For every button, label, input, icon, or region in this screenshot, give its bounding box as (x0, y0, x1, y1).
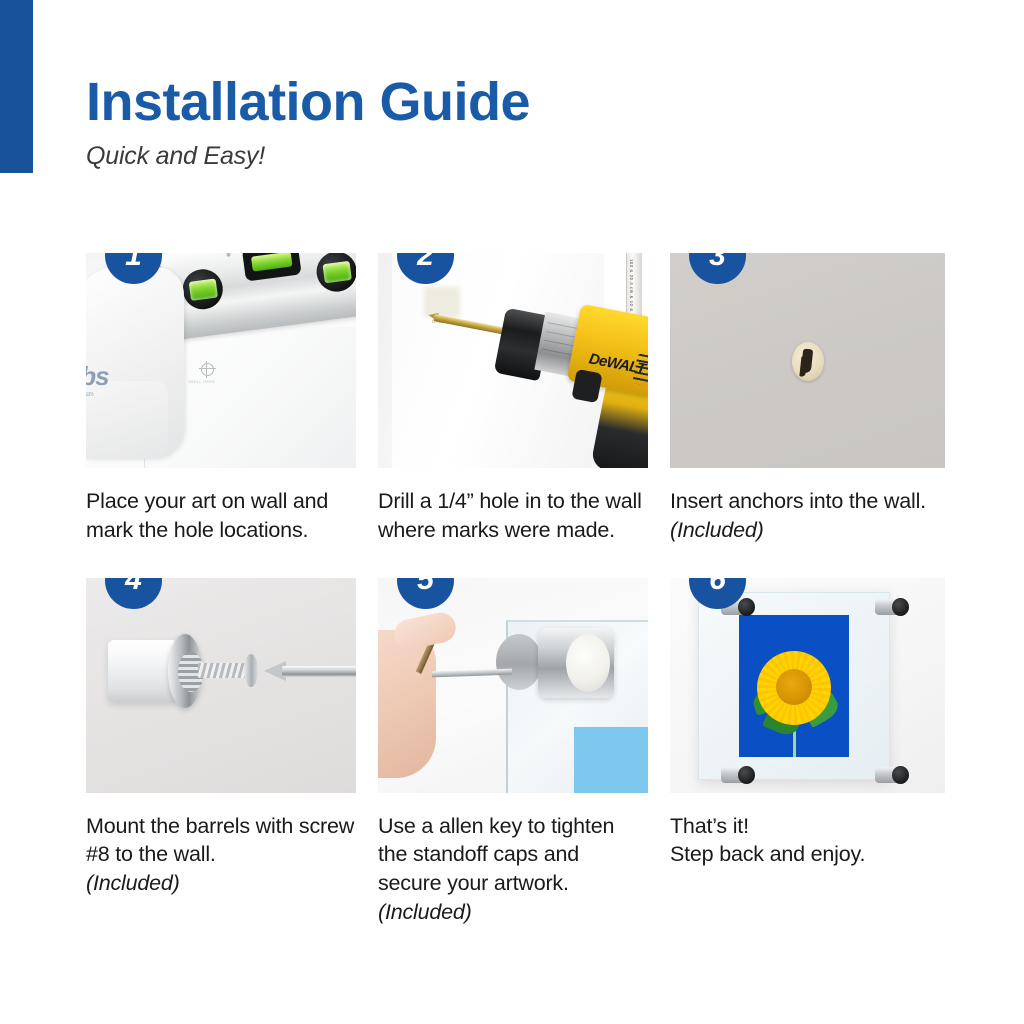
step-caption-6-main: That’s it! Step back and enjoy. (670, 814, 865, 867)
step-1: DRILL HERE lbswww.com 1 Place your art o… (86, 253, 356, 545)
level-on-acrylic-panel-photo: DRILL HERE lbswww.com 1 (86, 253, 356, 468)
step-badge-4: 4 (105, 578, 162, 609)
step-caption-4-note: (Included) (86, 869, 356, 898)
step-caption-6: That’s it! Step back and enjoy. (670, 812, 945, 870)
level-screw (226, 253, 230, 257)
standoff-barrel (108, 640, 176, 702)
step-caption-1: Place your art on wall and mark the hole… (86, 487, 356, 545)
steps-grid: DRILL HERE lbswww.com 1 Place your art o… (86, 253, 941, 927)
step-caption-5-note: (Included) (378, 898, 648, 927)
step-caption-4-main: Mount the barrels with screw #8 to the w… (86, 814, 354, 867)
standoff-bottom-right (875, 767, 905, 783)
installation-guide-page: Installation Guide Quick and Easy! DRILL… (0, 0, 1024, 1024)
sunflower-center (776, 669, 812, 705)
acrylic-float-frame (698, 592, 890, 780)
page-subtitle: Quick and Easy! (86, 142, 530, 171)
header-accent-bar (0, 0, 33, 173)
page-title: Installation Guide (86, 74, 530, 131)
step-4: 4 Mount the barrels with screw #8 to the… (86, 578, 356, 927)
mounting-screw (198, 663, 250, 678)
standoff-barrel-screw-photo: 4 (86, 578, 356, 793)
glove-logo: lbswww.com (86, 361, 109, 398)
registration-mark-icon (201, 363, 214, 376)
screwdriver-shaft (282, 666, 356, 677)
level-vial-center (242, 253, 302, 282)
wall-anchor (792, 342, 824, 381)
panel-label: DRILL HERE (189, 379, 215, 384)
finger (392, 609, 459, 651)
step-caption-2: Drill a 1/4” hole in to the wall where m… (378, 487, 648, 545)
step-caption-3-note: (Included) (670, 518, 764, 542)
step-caption-3-main: Insert anchors into the wall. (670, 489, 926, 513)
step-caption-5-main: Use a allen key to tighten the standoff … (378, 814, 614, 896)
level-vial-right (314, 253, 356, 294)
standoff-top-right (875, 599, 905, 615)
step-caption-5: Use a allen key to tighten the standoff … (378, 812, 648, 927)
standoff-bottom-left (721, 767, 751, 783)
wall-anchor-photo: 3 (670, 253, 945, 468)
cap-face (566, 634, 610, 692)
artwork-edge (574, 727, 648, 793)
step-caption-3: Insert anchors into the wall. (Included) (670, 487, 945, 545)
sunflower-print (739, 615, 849, 757)
step-2: DRILL HERE 100 & 20.4 cm & 10 & 1/2 in D… (378, 253, 648, 545)
step-badge-5: 5 (397, 578, 454, 609)
allen-key-tighten-cap-photo: 5 (378, 578, 648, 793)
finished-mounted-frame-photo: 6 (670, 578, 945, 793)
step-3: 3 Insert anchors into the wall. (Include… (670, 253, 945, 545)
standoff-cap (538, 628, 614, 698)
step-caption-4: Mount the barrels with screw #8 to the w… (86, 812, 356, 898)
drill-into-wall-photo: DRILL HERE 100 & 20.4 cm & 10 & 1/2 in D… (378, 253, 648, 468)
standoff-base (496, 634, 542, 690)
level-vial-left (180, 267, 225, 312)
header: Installation Guide Quick and Easy! (86, 74, 530, 171)
step-badge-3: 3 (689, 253, 746, 284)
step-6: 6 That’s it! Step back and enjoy. (670, 578, 945, 927)
screw-head (244, 654, 258, 687)
step-5: 5 Use a allen key to tighten the standof… (378, 578, 648, 927)
